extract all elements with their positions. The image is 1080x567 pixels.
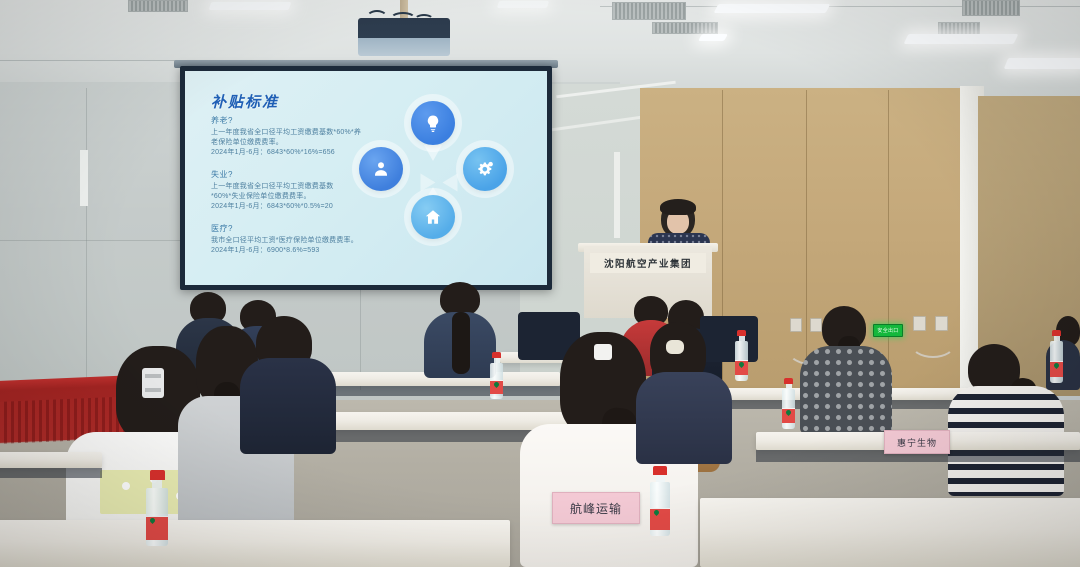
power-outlet[interactable] [790, 318, 802, 332]
projection-screen: 补贴标准 养老? 上一年度我省全口径平均工资缴费基数*60%*养 老保险单位缴费… [180, 66, 552, 290]
wall-cable [910, 328, 956, 358]
person-icon-pin [359, 147, 403, 191]
attendee-ponytail [452, 312, 470, 374]
bottle-neck [152, 480, 162, 488]
bottle-body [146, 488, 168, 546]
ceiling-light [714, 4, 831, 13]
water-bottle[interactable] [782, 378, 795, 429]
podium-sign: 沈阳航空产业集团 [590, 253, 706, 273]
slide-text-line: 我市全口径平均工资*医疗保险单位缴费费率。 [211, 236, 358, 246]
ceiling-light [904, 34, 1019, 44]
lightbulb-icon [424, 114, 442, 132]
bottle-label [490, 380, 503, 394]
ceiling-projector [358, 18, 450, 56]
bottle-cap [150, 470, 165, 480]
podium-sign-text: 沈阳航空产业集团 [604, 256, 692, 270]
bottle-cap [653, 466, 667, 475]
water-bottle[interactable] [490, 352, 503, 399]
home-icon [424, 208, 442, 226]
exit-sign-label: 安全出口 [877, 327, 898, 334]
bottle-body [1050, 341, 1063, 383]
hair-clip-detail [145, 388, 161, 392]
slide-block-medical: 医疗? 我市全口径平均工资*医疗保险单位缴费费率。 2024年1月-6月：690… [211, 223, 358, 256]
desk-underside [300, 386, 560, 396]
ceiling-light [209, 2, 292, 10]
bottle-body [735, 341, 748, 381]
wall-fixture [80, 150, 88, 206]
hair-clip-detail [145, 374, 161, 378]
water-bottle-foreground[interactable] [146, 470, 168, 546]
slide-text-line: 2024年1月-6月：6900*8.6%=593 [211, 246, 358, 256]
bottle-label [650, 508, 670, 530]
tshirt-flower [122, 482, 130, 490]
wood-panel-seam [888, 90, 889, 390]
slide-text-line: 上一年度我省全口径平均工资缴费基数 [211, 182, 333, 192]
name-card-center: 航峰运输 [552, 492, 640, 524]
desk-row-foreground-left [0, 452, 102, 468]
desk-row-foreground [0, 520, 510, 567]
hair-clip [142, 368, 164, 398]
bottle-body [490, 363, 503, 399]
wall-seam [86, 88, 87, 388]
gears-icon [476, 160, 494, 178]
presentation-slide: 补贴标准 养老? 上一年度我省全口径平均工资缴费基数*60%*养 老保险单位缴费… [185, 71, 547, 285]
bottle-label [146, 516, 168, 540]
air-vent [652, 22, 718, 34]
slide-block-unemployment: 失业? 上一年度我省全口径平均工资缴费基数 *60%*失业保险单位缴费费率。 2… [211, 169, 333, 212]
pin-tail [424, 145, 442, 161]
desk-row-foreground [700, 498, 1080, 567]
air-vent [612, 2, 686, 20]
ceiling-light [497, 1, 549, 8]
slide-question: 失业? [211, 169, 333, 180]
water-bottle[interactable] [735, 330, 748, 381]
slide-text-line: 上一年度我省全口径平均工资缴费基数*60%*养 [211, 128, 361, 138]
air-vent [962, 0, 1020, 16]
bottle-body [650, 482, 670, 536]
ceiling-light [698, 34, 728, 41]
slide-question: 医疗? [211, 223, 358, 234]
air-vent [128, 0, 188, 12]
slide-text-line: 老保险单位缴费费率。 [211, 138, 361, 148]
home-icon-pin [411, 195, 455, 239]
desk-underside [0, 468, 102, 478]
conference-room-photo: 安全出口 补贴标准 养老? 上一年度我省全口径平均工资缴费基数*60%*养 老保… [0, 0, 1080, 567]
office-chair[interactable] [700, 316, 758, 362]
emergency-exit-sign: 安全出口 [873, 324, 903, 337]
name-card-text: 惠宁生物 [897, 436, 937, 449]
attendee-torso-patterned [800, 346, 892, 434]
slide-block-pension: 养老? 上一年度我省全口径平均工资缴费基数*60%*养 老保险单位缴费费率。 2… [211, 115, 361, 158]
hair-tie [666, 340, 684, 354]
attendee-hair [440, 282, 480, 316]
pin-tail [443, 174, 458, 192]
ceiling-light [1004, 58, 1080, 69]
water-bottle[interactable] [1050, 330, 1063, 383]
bottle-label [1050, 361, 1063, 377]
slide-text-line: 2024年1月-6月：6843*60%*0.5%=20 [211, 202, 333, 212]
name-card-right: 惠宁生物 [884, 430, 950, 454]
lightbulb-icon-pin [411, 101, 455, 145]
bottle-label [735, 360, 748, 375]
water-bottle-foreground[interactable] [650, 466, 670, 536]
attendee-torso [636, 372, 732, 464]
slide-text-line: 2024年1月-6月：6843*60%*16%=656 [211, 148, 361, 158]
glass-reflection [614, 152, 620, 238]
slide-title: 补贴标准 [211, 91, 279, 112]
attendee-torso [240, 358, 336, 454]
speaker-hair [660, 199, 696, 215]
person-icon [372, 160, 390, 178]
bottle-neck [656, 475, 665, 482]
hair-clip [594, 344, 612, 360]
name-card-text: 航峰运输 [570, 500, 622, 517]
slide-question: 养老? [211, 115, 361, 126]
gears-icon-pin [463, 147, 507, 191]
slide-text-line: *60%*失业保险单位缴费费率。 [211, 192, 333, 202]
bottle-label [782, 408, 795, 423]
bottle-body [782, 389, 795, 429]
